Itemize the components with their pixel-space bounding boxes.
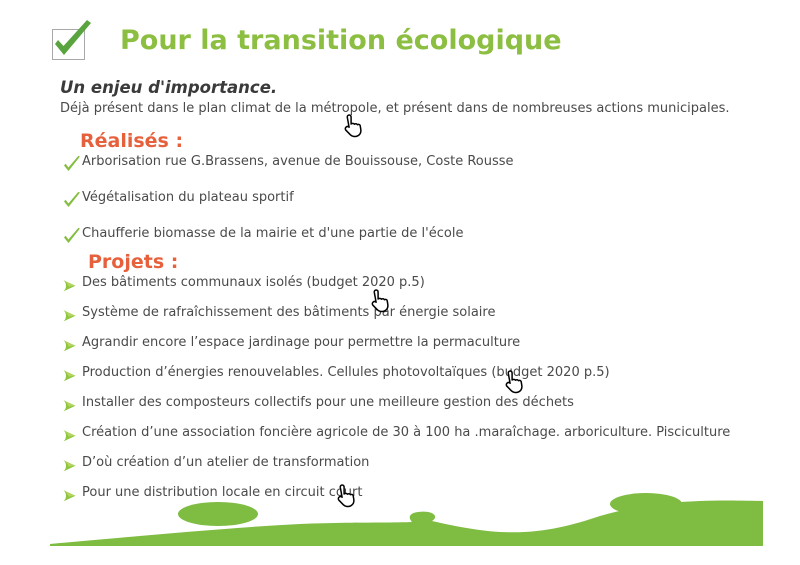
section-heading-realises: Réalisés :	[80, 130, 183, 152]
arrow-right-icon	[62, 367, 82, 385]
list-item-label: Arborisation rue G.Brassens, avenue de B…	[82, 155, 514, 170]
list-item: Arborisation rue G.Brassens, avenue de B…	[62, 155, 782, 173]
checkbox-check-icon	[44, 17, 96, 63]
list-item: Système de rafraîchissement des bâtiment…	[62, 306, 792, 324]
arrow-right-icon	[62, 337, 82, 355]
list-item: Pour une distribution locale en circuit …	[62, 486, 792, 504]
list-item: Installer des composteurs collectifs pou…	[62, 396, 792, 414]
check-icon	[62, 192, 82, 210]
list-item: Végétalisation du plateau sportif	[62, 191, 782, 209]
list-item-label: Végétalisation du plateau sportif	[82, 191, 294, 206]
check-glyph	[44, 17, 96, 63]
list-item-label: Production d’énergies renouvelables. Cel…	[82, 366, 610, 381]
list-item-label: Installer des composteurs collectifs pou…	[82, 396, 574, 411]
list-item-label: Chaufferie biomasse de la mairie et d'un…	[82, 227, 463, 242]
page-title: Pour la transition écologique	[120, 25, 562, 56]
list-item: Agrandir encore l’espace jardinage pour …	[62, 336, 792, 354]
intro-text: Déjà présent dans le plan climat de la m…	[60, 101, 760, 117]
section-heading-projets: Projets :	[88, 251, 178, 273]
list-item-label: Création d’une association foncière agri…	[82, 426, 730, 441]
arrow-right-icon	[62, 307, 82, 325]
slide-canvas: Pour la transition écologique Un enjeu d…	[0, 0, 800, 565]
list-item-label: Système de rafraîchissement des bâtiment…	[82, 306, 495, 321]
list-item: D’où création d’un atelier de transforma…	[62, 456, 792, 474]
arrow-right-icon	[62, 337, 82, 355]
intro-heading: Un enjeu d'importance.	[60, 78, 760, 98]
arrow-right-icon	[62, 427, 82, 445]
check-icon	[62, 156, 82, 174]
arrow-right-icon	[62, 397, 82, 415]
arrow-right-icon	[62, 457, 82, 475]
arrow-right-icon	[62, 277, 82, 295]
arrow-right-icon	[62, 367, 82, 385]
list-item-label: Agrandir encore l’espace jardinage pour …	[82, 336, 520, 351]
list-item: Des bâtiments communaux isolés (budget 2…	[62, 276, 792, 294]
check-icon	[62, 228, 82, 246]
arrow-right-icon	[62, 427, 82, 445]
check-icon	[62, 228, 82, 246]
list-realises: Arborisation rue G.Brassens, avenue de B…	[62, 155, 782, 263]
arrow-right-icon	[62, 397, 82, 415]
list-item-label: Pour une distribution locale en circuit …	[82, 486, 363, 501]
arrow-right-icon	[62, 307, 82, 325]
list-item-label: Des bâtiments communaux isolés (budget 2…	[82, 276, 425, 291]
arrow-right-icon	[62, 487, 82, 505]
check-icon	[62, 156, 82, 174]
list-item-label: D’où création d’un atelier de transforma…	[82, 456, 369, 471]
list-projets: Des bâtiments communaux isolés (budget 2…	[62, 276, 792, 516]
arrow-right-icon	[62, 457, 82, 475]
arrow-right-icon	[62, 487, 82, 505]
list-item: Production d’énergies renouvelables. Cel…	[62, 366, 792, 384]
list-item: Chaufferie biomasse de la mairie et d'un…	[62, 227, 782, 245]
intro-block: Un enjeu d'importance. Déjà présent dans…	[60, 78, 760, 117]
arrow-right-icon	[62, 277, 82, 295]
check-icon	[62, 192, 82, 210]
list-item: Création d’une association foncière agri…	[62, 426, 792, 444]
slide-header: Pour la transition écologique	[44, 14, 562, 66]
